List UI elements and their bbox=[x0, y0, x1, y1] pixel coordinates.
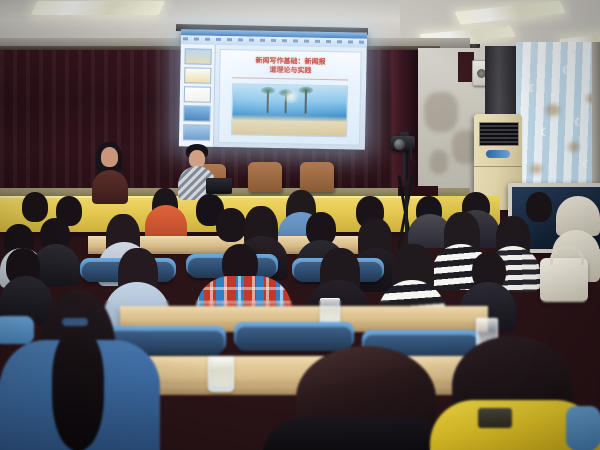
chair-trim bbox=[0, 316, 34, 344]
slide-thumbnail bbox=[184, 48, 211, 65]
tripod-column bbox=[403, 150, 408, 180]
head bbox=[22, 192, 48, 222]
hair-strand bbox=[52, 330, 104, 450]
projection-screen: 新闻写作基础：新闻报 道理论与实践 bbox=[179, 29, 367, 150]
slide-divider bbox=[232, 77, 348, 80]
slide-title-text: 新闻写作基础：新闻报 道理论与实践 bbox=[226, 56, 354, 76]
window-frame bbox=[592, 42, 600, 197]
slide-photo bbox=[231, 83, 348, 137]
current-slide: 新闻写作基础：新闻报 道理论与实践 bbox=[218, 49, 362, 146]
slide-thumbnail bbox=[184, 86, 211, 103]
curtain-blotch bbox=[530, 164, 542, 174]
presenter-torso bbox=[92, 170, 128, 204]
phone-object bbox=[478, 408, 512, 428]
wall-stain bbox=[424, 92, 458, 132]
palm-fronds bbox=[299, 86, 313, 93]
curtain-blotch bbox=[546, 104, 560, 116]
curtain-motif-icon: ☾ bbox=[562, 66, 572, 77]
torso bbox=[262, 418, 452, 450]
wall-stain bbox=[430, 150, 448, 174]
window-with-curtain: ☾ ☾ ☾ ☾ ☾ bbox=[516, 42, 600, 197]
presenter-head bbox=[101, 147, 118, 167]
ac-grille bbox=[479, 122, 519, 146]
slide-thumbnail bbox=[184, 67, 211, 84]
chair-back bbox=[236, 327, 352, 351]
curtain-motif-icon: ☾ bbox=[528, 84, 538, 95]
hair-tie bbox=[62, 318, 88, 326]
powerpoint-thumbnail-pane bbox=[179, 44, 216, 147]
palm-fronds bbox=[261, 87, 275, 94]
curtain-motif-icon: ☾ bbox=[540, 128, 550, 139]
sun-glare bbox=[281, 89, 301, 103]
palm-trunk bbox=[267, 91, 269, 113]
camera-lens-icon bbox=[394, 139, 405, 150]
curtain-motif-icon: ☾ bbox=[574, 118, 584, 129]
ac-logo-badge bbox=[486, 150, 510, 158]
front-chair bbox=[248, 162, 282, 192]
slide-thumbnail bbox=[183, 105, 210, 122]
lecture-room-photo: ☾ ☾ ☾ ☾ ☾ 新闻写作基础：新闻报 道理论与实践 bbox=[0, 0, 600, 450]
slide-thumbnail bbox=[183, 124, 210, 141]
palm-trunk bbox=[305, 91, 307, 114]
chair-trim bbox=[566, 406, 600, 450]
camera-strap bbox=[410, 145, 424, 163]
ac-panel-seam bbox=[474, 166, 522, 167]
head bbox=[216, 208, 246, 242]
water-glass bbox=[208, 356, 234, 392]
ceiling-light-1 bbox=[31, 1, 166, 15]
curtain-blotch bbox=[568, 142, 579, 152]
curtain-motif-icon: ☾ bbox=[582, 160, 592, 171]
head bbox=[526, 192, 552, 222]
laptop bbox=[206, 178, 232, 194]
front-chair bbox=[300, 162, 334, 192]
handbag-strap bbox=[550, 246, 584, 265]
